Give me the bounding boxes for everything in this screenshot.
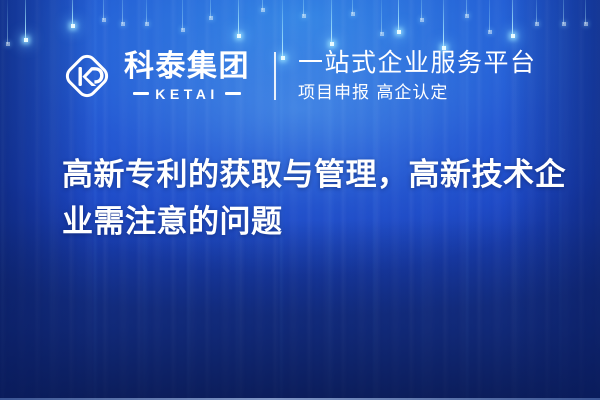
banner-header: 科泰集团 KETAI 一站式企业服务平台 项目申报 高企认定 xyxy=(0,44,600,108)
tagline-sub: 项目申报 高企认定 xyxy=(298,84,537,103)
vertical-divider xyxy=(274,52,276,100)
page-title: 高新专利的获取与管理，高新技术企业需注意的问题 xyxy=(62,152,570,246)
brand-name-en: KETAI xyxy=(155,87,218,101)
tagline-block: 一站式企业服务平台 项目申报 高企认定 xyxy=(298,49,537,102)
brand-name-cn: 科泰集团 xyxy=(124,52,250,82)
ketai-diamond-monogram-icon xyxy=(62,51,112,101)
brand-wordmark: 科泰集团 KETAI xyxy=(124,52,250,101)
brand-name-en-row: KETAI xyxy=(124,87,250,101)
dash-right-icon xyxy=(225,92,241,95)
dash-left-icon xyxy=(133,92,149,95)
brand-logo: 科泰集团 KETAI xyxy=(62,51,250,101)
tagline-main: 一站式企业服务平台 xyxy=(298,49,537,77)
promo-banner: 科泰集团 KETAI 一站式企业服务平台 项目申报 高企认定 高新专利的获取与管… xyxy=(0,0,600,400)
